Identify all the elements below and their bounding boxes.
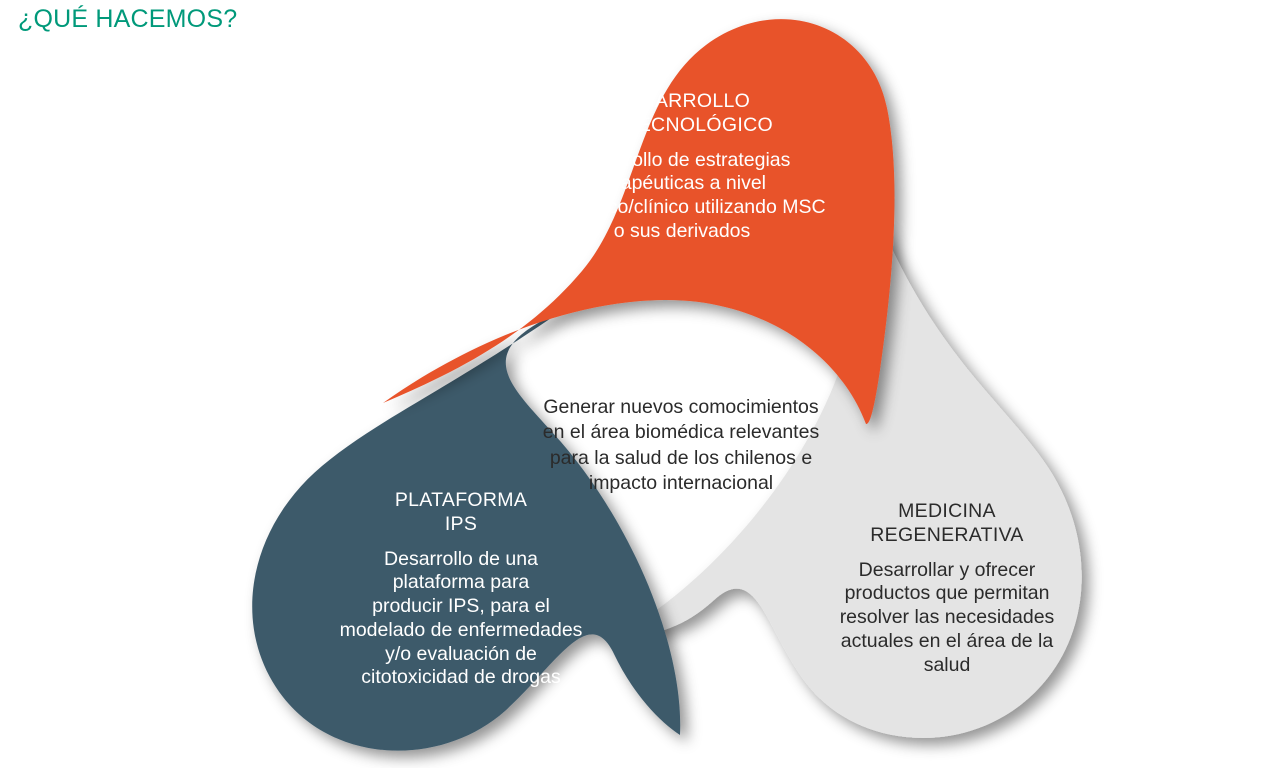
lobe-heading-desarrollo-biotecnologico: DESARROLLO BIOTECNOLÓGICO: [500, 90, 864, 138]
slide-canvas: ¿QUÉ HACEMOS? DESARROLLO BIOTECNOLÓGICO …: [0, 0, 1283, 768]
lobe-body-plataforma-ips: Desarrollo de una plataforma para produc…: [281, 548, 641, 691]
lobe-body-medicina-regenerativa: Desarrollar y ofrecer productos que perm…: [806, 559, 1088, 678]
lobe-heading-medicina-regenerativa: MEDICINA REGENERATIVA: [806, 500, 1088, 548]
lobe-text-desarrollo-biotecnologico: DESARROLLO BIOTECNOLÓGICO Desarrollo de …: [500, 90, 864, 244]
lobe-text-medicina-regenerativa: MEDICINA REGENERATIVA Desarrollar y ofre…: [806, 500, 1088, 677]
center-text: Generar nuevos comocimientos en el área …: [505, 395, 857, 496]
lobe-body-desarrollo-biotecnologico: Desarrollo de estrategias terapéuticas a…: [500, 149, 864, 244]
lobe-text-plataforma-ips: PLATAFORMA IPS Desarrollo de una platafo…: [281, 489, 641, 690]
